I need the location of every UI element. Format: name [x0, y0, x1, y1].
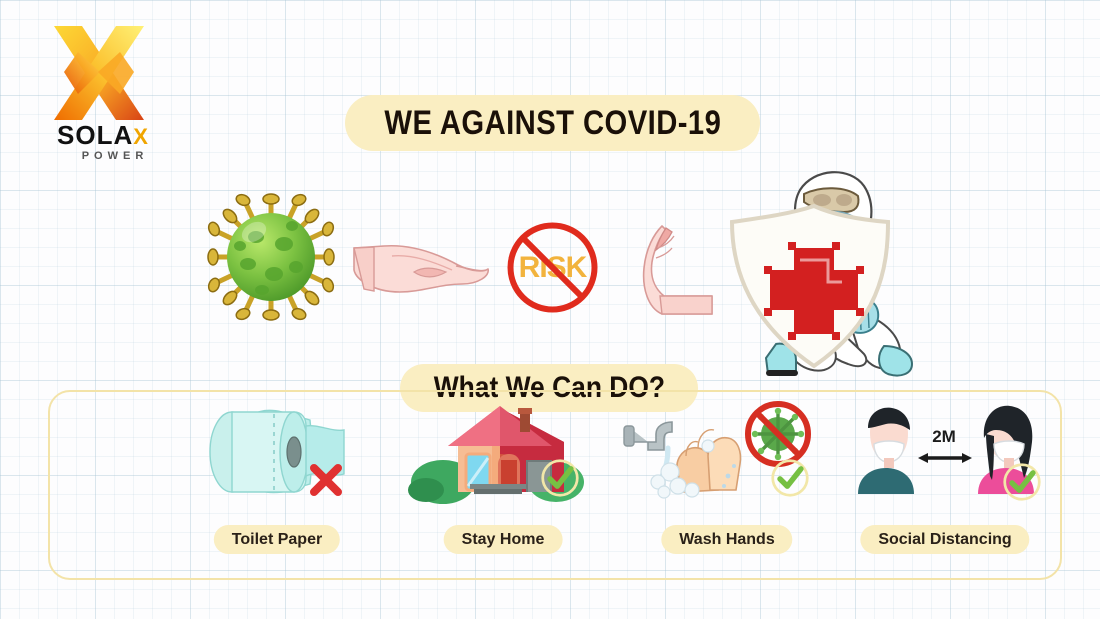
- prevention-card-wash-hands: Wash Hands: [612, 392, 842, 578]
- cross-mark-icon: [306, 460, 346, 500]
- prevention-card-social-distancing: 2M Social Di: [830, 392, 1060, 578]
- title-banner: WE AGAINST COVID-19: [345, 95, 760, 151]
- distance-label: 2M: [932, 427, 956, 446]
- house-home-icon: [388, 398, 618, 506]
- hero-illustration-row: RISK: [0, 150, 1100, 370]
- page-title: WE AGAINST COVID-19: [384, 104, 721, 143]
- prevention-panel: Toilet Paper: [48, 390, 1062, 580]
- check-mark-icon: [1002, 462, 1042, 502]
- check-mark-icon: [540, 458, 580, 498]
- prevention-card-stay-home: Stay Home: [388, 392, 618, 578]
- coronavirus-icon: [196, 182, 346, 332]
- logo-name-accent: X: [133, 124, 149, 149]
- toilet-paper-roll-icon: [162, 398, 392, 506]
- open-palm-hand-icon: [352, 232, 492, 302]
- no-risk-prohibition-icon: RISK: [505, 220, 600, 315]
- card-label-wash-hands: Wash Hands: [661, 525, 792, 554]
- card-label-stay-home: Stay Home: [444, 525, 563, 554]
- logo-name-main: SOLA: [57, 120, 133, 150]
- prevention-card-toilet-paper: Toilet Paper: [162, 392, 392, 578]
- card-label-social-distancing: Social Distancing: [860, 525, 1029, 554]
- stop-hand-icon: [640, 222, 720, 317]
- brand-logo: SOLAX POWER: [34, 22, 164, 157]
- medical-worker-with-shield-icon: [718, 160, 923, 390]
- solax-x-logo-icon: [34, 22, 164, 127]
- card-label-toilet-paper: Toilet Paper: [214, 525, 340, 554]
- check-mark-icon: [770, 458, 810, 498]
- poster-canvas: SOLAX POWER WE AGAINST COVID-19: [0, 0, 1100, 619]
